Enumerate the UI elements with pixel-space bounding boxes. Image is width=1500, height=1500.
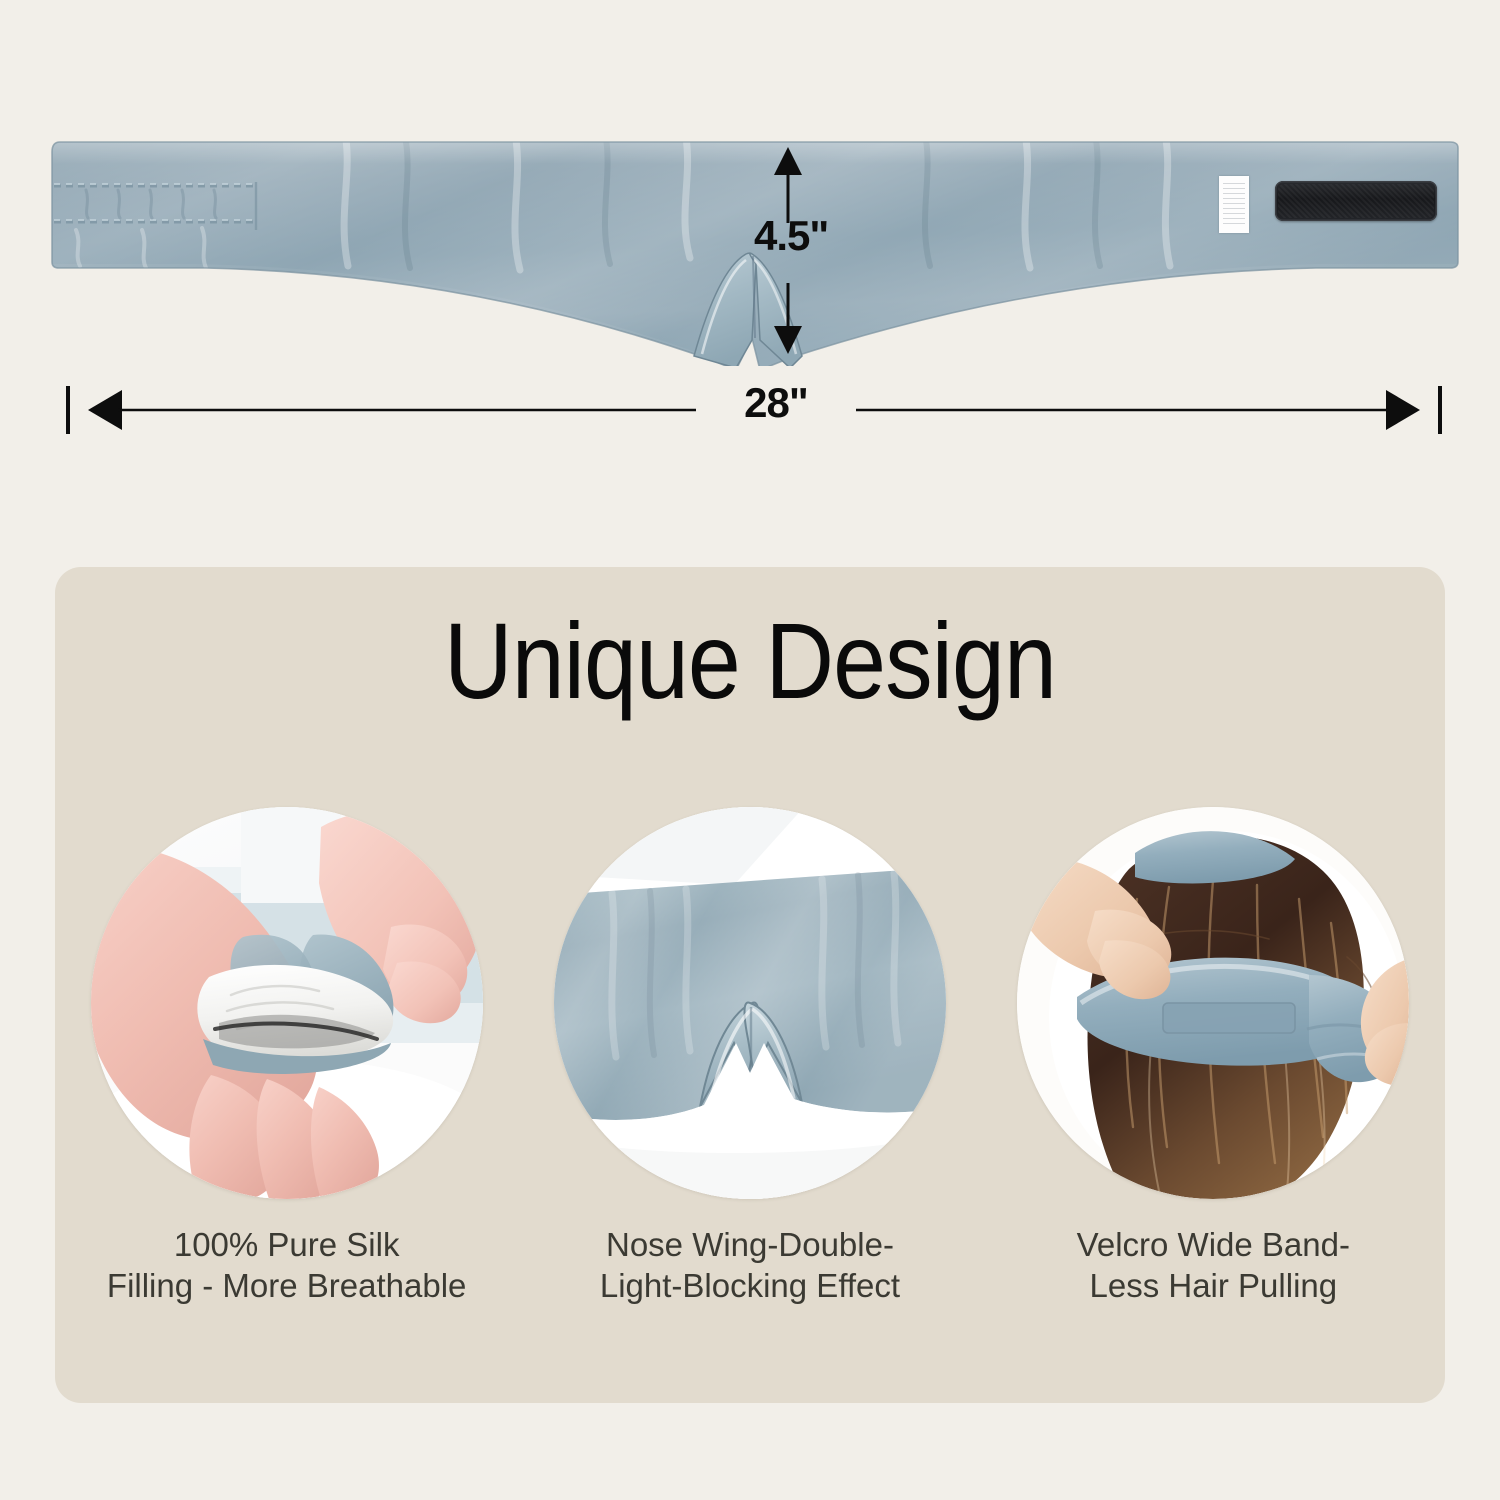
feature-caption-line2: Less Hair Pulling bbox=[1077, 1266, 1350, 1307]
vertical-dimension-arrow: 4.5" bbox=[760, 143, 824, 358]
feature-item-silk-filling: 100% Pure Silk Filling - More Breathable bbox=[77, 807, 497, 1307]
feature-caption-line1: 100% Pure Silk bbox=[107, 1225, 467, 1266]
velcro-band-illustration bbox=[1017, 807, 1409, 1199]
feature-caption-line2: Light-Blocking Effect bbox=[600, 1266, 900, 1307]
feature-caption: Nose Wing-Double- Light-Blocking Effect bbox=[600, 1225, 900, 1307]
panel-title: Unique Design bbox=[138, 607, 1361, 715]
velcro-strip bbox=[1275, 181, 1437, 221]
feature-caption-line1: Velcro Wide Band- bbox=[1077, 1225, 1350, 1266]
silk-filling-illustration bbox=[91, 807, 483, 1199]
nose-wing-closeup-photo bbox=[554, 807, 946, 1199]
horizontal-dimension-arrow: 28" bbox=[60, 382, 1450, 440]
width-dimension-label: 28" bbox=[696, 380, 856, 426]
feature-caption-line1: Nose Wing-Double- bbox=[600, 1225, 900, 1266]
feature-caption-line2: Filling - More Breathable bbox=[107, 1266, 467, 1307]
height-dimension-label: 4.5" bbox=[754, 215, 864, 257]
feature-list: 100% Pure Silk Filling - More Breathable bbox=[55, 807, 1445, 1307]
velcro-wide-band-on-head-photo bbox=[1017, 807, 1409, 1199]
feature-caption: Velcro Wide Band- Less Hair Pulling bbox=[1077, 1225, 1350, 1307]
care-label-text-lines bbox=[1223, 183, 1245, 226]
feature-item-velcro-band: Velcro Wide Band- Less Hair Pulling bbox=[1003, 807, 1423, 1307]
feature-caption: 100% Pure Silk Filling - More Breathable bbox=[107, 1225, 467, 1307]
product-dimension-section: 4.5" 28" bbox=[0, 0, 1500, 560]
nose-wing-illustration bbox=[554, 807, 946, 1199]
unique-design-panel: Unique Design bbox=[55, 567, 1445, 1403]
hands-holding-silk-filling-photo bbox=[91, 807, 483, 1199]
feature-item-nose-wing: Nose Wing-Double- Light-Blocking Effect bbox=[540, 807, 960, 1307]
care-label bbox=[1219, 176, 1249, 233]
